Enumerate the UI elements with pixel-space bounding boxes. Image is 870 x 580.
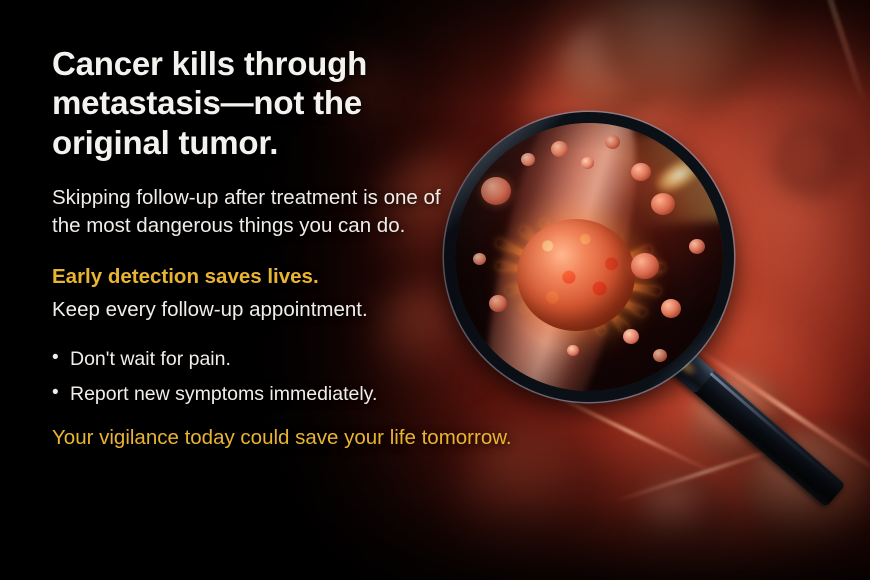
- poster-copy: Cancer kills through metastasis—not the …: [52, 0, 652, 450]
- accent-callout: Early detection saves lives.: [52, 265, 652, 289]
- poster-canvas: Cancer kills through metastasis—not the …: [0, 0, 870, 580]
- sub-callout: Keep every follow-up appointment.: [52, 298, 652, 322]
- page-title: Cancer kills through metastasis—not the …: [52, 44, 432, 162]
- list-item: Don't wait for pain.: [52, 346, 652, 372]
- lede-paragraph: Skipping follow-up after treatment is on…: [52, 184, 444, 240]
- list-item: Report new symptoms immediately.: [52, 381, 652, 407]
- closing-line: Your vigilance today could save your lif…: [52, 426, 652, 450]
- bullet-list: Don't wait for pain. Report new symptoms…: [52, 346, 652, 407]
